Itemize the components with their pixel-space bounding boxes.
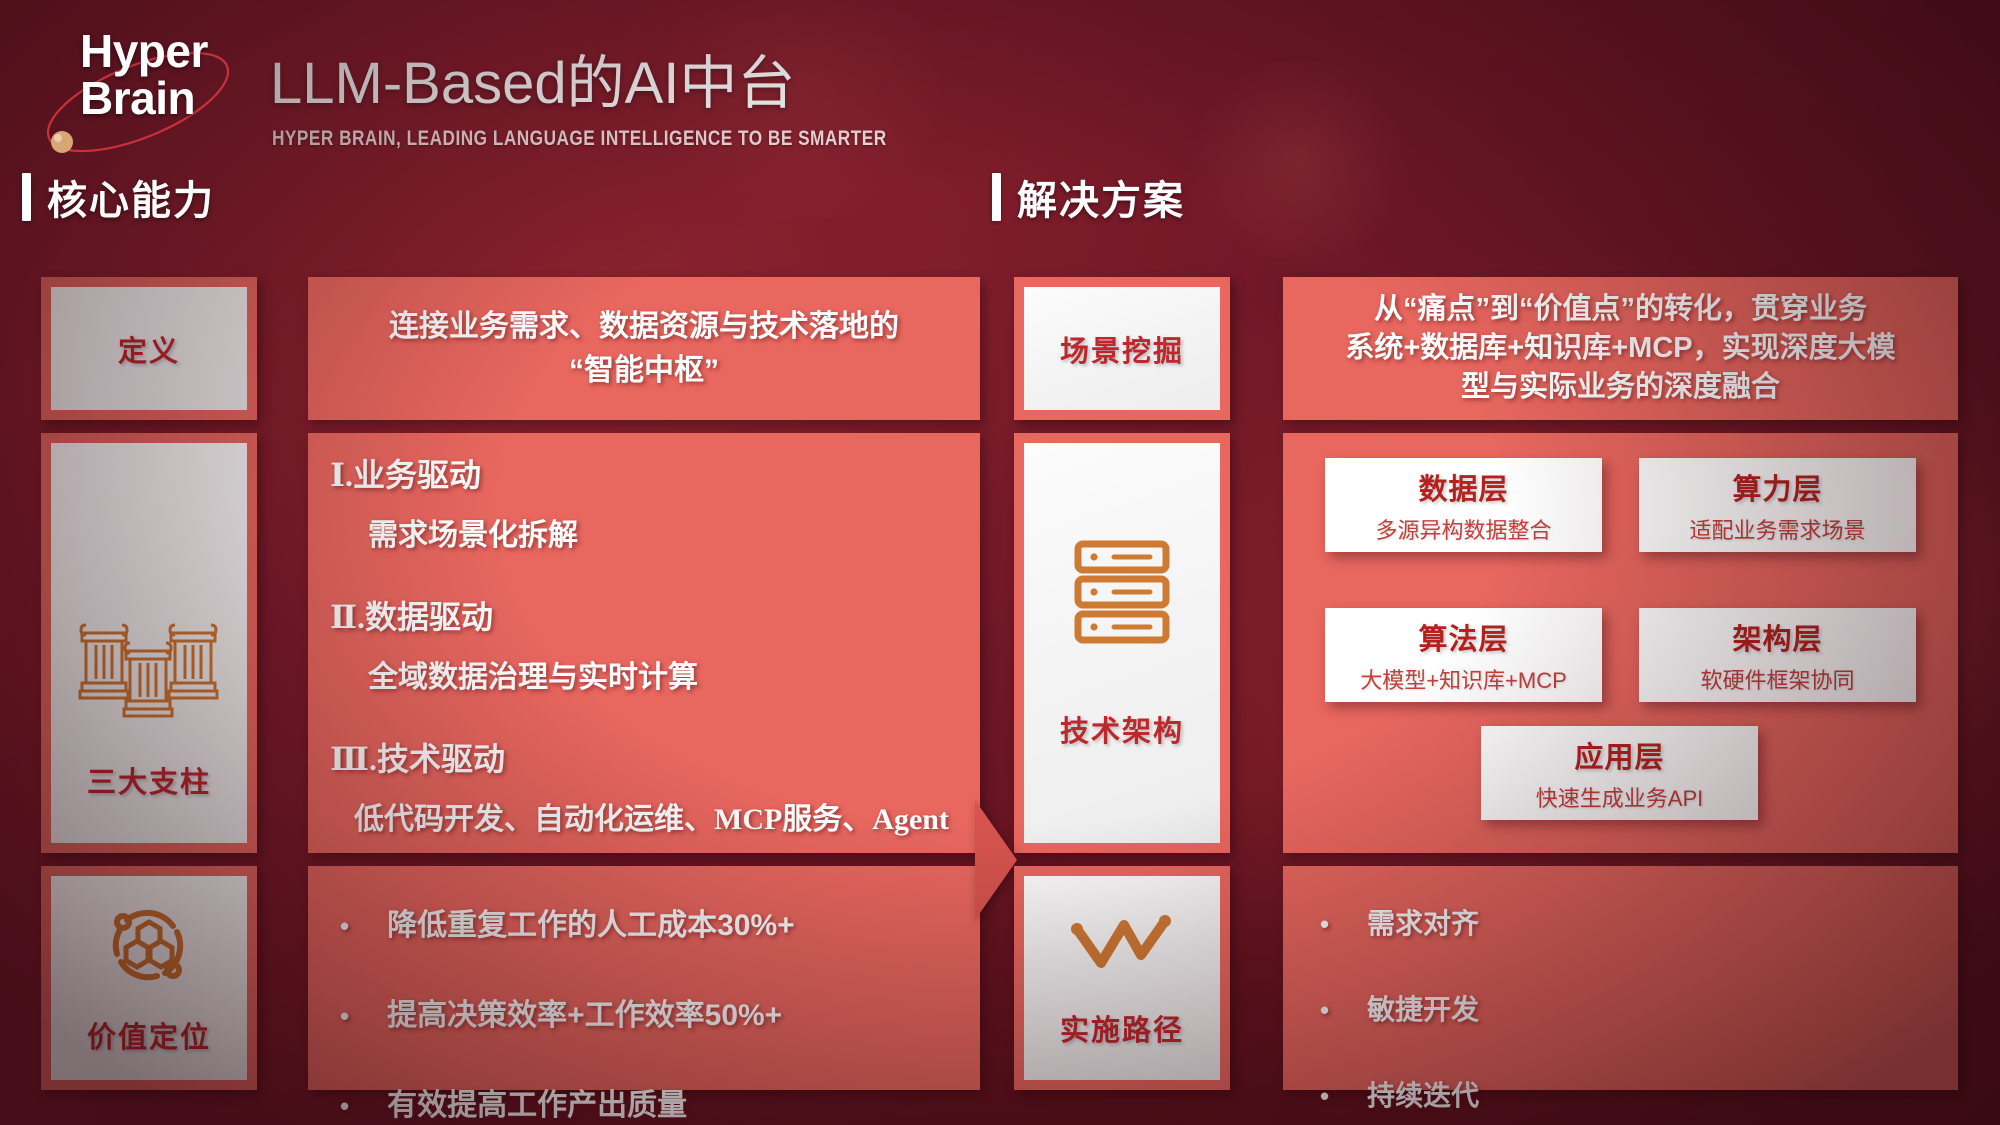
- path-bullet-list: • 需求对齐 • 敏捷开发 • 持续迭代: [1320, 902, 1479, 1114]
- list-item: • 降低重复工作的人工成本30%+: [340, 900, 795, 944]
- bullet-dot-icon: •: [340, 1003, 349, 1029]
- layer-card-data[interactable]: 数据层 多源异构数据整合: [1325, 458, 1602, 552]
- layer-algorithm-subtitle: 大模型+知识库+MCP: [1360, 663, 1567, 695]
- card-scenario-inner: 场景挖掘: [1024, 287, 1220, 410]
- scenario-text-line-2: 系统+数据库+知识库+MCP，实现深度大模: [1345, 329, 1895, 368]
- card-pillars-inner: 三大支柱: [51, 443, 247, 843]
- pillar-3-numeral: Ⅲ.: [330, 741, 377, 777]
- bullet-dot-icon: •: [1320, 997, 1329, 1023]
- layer-algorithm-title: 算法层: [1418, 616, 1508, 658]
- slide-canvas: Hyper Brain LLM-Based的AI中台 HYPER BRAIN, …: [0, 0, 2000, 1125]
- pillar-1-name: 业务驱动: [353, 457, 481, 493]
- pillar-2-name: 数据驱动: [365, 599, 493, 635]
- card-value-label[interactable]: 价值定位: [41, 866, 257, 1090]
- value-network-icon: [103, 900, 195, 992]
- layer-framework-subtitle: 软硬件框架协同: [1700, 663, 1854, 695]
- pillar-3-desc: 低代码开发、自动化运维、MCP服务、Agent: [354, 794, 949, 838]
- pillar-2-numeral: Ⅱ.: [330, 599, 365, 635]
- layer-card-application[interactable]: 应用层 快速生成业务API: [1481, 726, 1758, 820]
- layer-compute-subtitle: 适配业务需求场景: [1689, 513, 1865, 545]
- pillar-3-name: 技术驱动: [377, 741, 505, 777]
- path-bullet-2: 敏捷开发: [1367, 988, 1479, 1028]
- scenario-text-line-3: 型与实际业务的深度融合: [1345, 368, 1895, 407]
- brand-line-2: Brain: [80, 75, 270, 122]
- page-title: LLM-Based的AI中台: [270, 36, 795, 120]
- card-pillars-label[interactable]: 三大支柱: [41, 433, 257, 853]
- server-rack-icon: [1070, 536, 1174, 648]
- definition-text-line-2: “智能中枢”: [389, 349, 899, 393]
- pillar-2-desc: 全域数据治理与实时计算: [368, 652, 698, 696]
- card-pillars-caption: 三大支柱: [87, 759, 211, 801]
- path-bullet-1: 需求对齐: [1367, 902, 1479, 942]
- page-subtitle: HYPER BRAIN, LEADING LANGUAGE INTELLIGEN…: [272, 127, 887, 151]
- zigzag-trend-icon: [1067, 907, 1177, 981]
- card-path-caption: 实施路径: [1060, 1007, 1184, 1049]
- pillar-1-numeral: Ⅰ.: [330, 457, 353, 493]
- layer-framework-title: 架构层: [1732, 616, 1822, 658]
- card-scenario-body: 从“痛点”到“价值点”的转化，贯穿业务 系统+数据库+知识库+MCP，实现深度大…: [1283, 277, 1958, 420]
- section-heading-solution: 解决方案: [992, 168, 1185, 226]
- card-scenario-caption: 场景挖掘: [1060, 328, 1184, 370]
- list-item: • 需求对齐: [1320, 902, 1479, 942]
- card-value-caption: 价值定位: [87, 1014, 211, 1056]
- section-heading-right-label: 解决方案: [1017, 168, 1185, 226]
- layer-card-framework[interactable]: 架构层 软硬件框架协同: [1639, 608, 1916, 702]
- scenario-text-line-1: 从“痛点”到“价值点”的转化，贯穿业务: [1345, 290, 1895, 329]
- card-value-inner: 价值定位: [51, 876, 247, 1080]
- card-architecture-label[interactable]: 技术架构: [1014, 433, 1230, 853]
- heading-accent-bar: [992, 173, 1001, 221]
- value-bullet-2: 提高决策效率+工作效率50%+: [387, 990, 782, 1034]
- layer-data-title: 数据层: [1418, 466, 1508, 508]
- layer-compute-title: 算力层: [1732, 466, 1822, 508]
- value-bullet-1: 降低重复工作的人工成本30%+: [387, 900, 795, 944]
- pillar-item-2: Ⅱ.数据驱动 全域数据治理与实时计算: [330, 592, 698, 696]
- layer-card-algorithm[interactable]: 算法层 大模型+知识库+MCP: [1325, 608, 1602, 702]
- card-scenario-label[interactable]: 场景挖掘: [1014, 277, 1230, 420]
- list-item: • 持续迭代: [1320, 1074, 1479, 1114]
- pillar-1-desc: 需求场景化拆解: [368, 510, 578, 554]
- scenario-text: 从“痛点”到“价值点”的转化，贯穿业务 系统+数据库+知识库+MCP，实现深度大…: [1345, 290, 1895, 407]
- layer-data-subtitle: 多源异构数据整合: [1375, 513, 1551, 545]
- card-definition-caption: 定义: [118, 328, 180, 370]
- layer-application-subtitle: 快速生成业务API: [1536, 781, 1703, 813]
- list-item: • 提高决策效率+工作效率50%+: [340, 990, 795, 1034]
- pillar-1-title: Ⅰ.业务驱动: [330, 450, 578, 496]
- list-item: • 敏捷开发: [1320, 988, 1479, 1028]
- pillar-3-title: Ⅲ.技术驱动: [330, 734, 949, 780]
- list-item: • 有效提高工作产出质量: [340, 1080, 795, 1124]
- section-heading-left-label: 核心能力: [47, 168, 215, 226]
- card-definition-inner: 定义: [51, 287, 247, 410]
- definition-text: 连接业务需求、数据资源与技术落地的 “智能中枢”: [389, 305, 899, 392]
- three-pillars-icon: [74, 603, 224, 733]
- layer-card-compute[interactable]: 算力层 适配业务需求场景: [1639, 458, 1916, 552]
- bokeh-decor: [1180, 60, 1420, 260]
- pillar-item-1: Ⅰ.业务驱动 需求场景化拆解: [330, 450, 578, 554]
- heading-accent-bar: [22, 173, 31, 221]
- bullet-dot-icon: •: [340, 913, 349, 939]
- pillar-2-title: Ⅱ.数据驱动: [330, 592, 698, 638]
- card-definition-body: 连接业务需求、数据资源与技术落地的 “智能中枢”: [308, 277, 980, 420]
- card-path-label[interactable]: 实施路径: [1014, 866, 1230, 1090]
- brand-logo: Hyper Brain: [80, 28, 270, 122]
- value-bullet-3: 有效提高工作产出质量: [387, 1080, 687, 1124]
- bullet-dot-icon: •: [340, 1093, 349, 1119]
- bullet-dot-icon: •: [1320, 911, 1329, 937]
- value-bullet-list: • 降低重复工作的人工成本30%+ • 提高决策效率+工作效率50%+ • 有效…: [340, 900, 795, 1124]
- definition-text-line-1: 连接业务需求、数据资源与技术落地的: [389, 305, 899, 349]
- bullet-dot-icon: •: [1320, 1083, 1329, 1109]
- card-definition-label[interactable]: 定义: [41, 277, 257, 420]
- card-architecture-inner: 技术架构: [1024, 443, 1220, 843]
- flow-arrow-connector: [975, 800, 1017, 920]
- layer-application-title: 应用层: [1574, 734, 1664, 776]
- card-path-inner: 实施路径: [1024, 876, 1220, 1080]
- card-architecture-caption: 技术架构: [1060, 708, 1184, 750]
- path-bullet-3: 持续迭代: [1367, 1074, 1479, 1114]
- brand-line-1: Hyper: [80, 28, 270, 75]
- section-heading-core-capability: 核心能力: [22, 168, 215, 226]
- pillar-item-3: Ⅲ.技术驱动 低代码开发、自动化运维、MCP服务、Agent: [330, 734, 949, 838]
